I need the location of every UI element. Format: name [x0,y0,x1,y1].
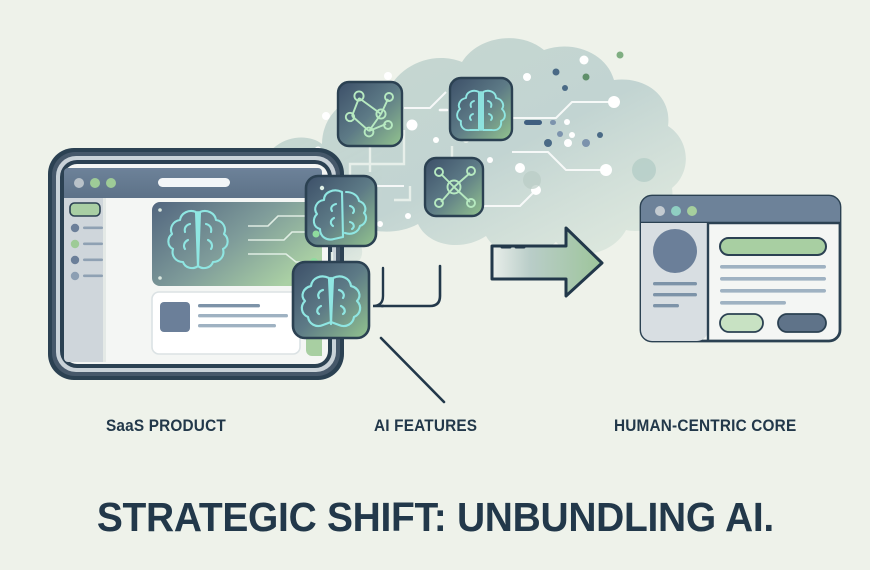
core-secondary-button [720,314,763,332]
core-avatar [653,229,697,273]
core-primary-button [778,314,826,332]
ai-card-node-graph-top[interactable] [338,82,402,146]
window-dot-1 [74,178,84,188]
core-titlebar [641,196,840,223]
core-dot-1 [655,206,665,216]
ai-card-brain-left[interactable] [306,176,376,246]
label-saas-product: SaaS PRODUCT [106,417,226,436]
headline-text: STRATEGIC SHIFT: UNBUNDLING AI. [96,494,773,541]
device-search-bar [158,178,230,187]
card-thumbnail [160,302,190,332]
ai-card-node-graph-mid[interactable] [425,158,483,216]
window-dot-3 [106,178,116,188]
diagram-svg [0,0,870,570]
ai-card-brain-lower[interactable] [293,262,369,338]
ai-card-brain-top-right[interactable] [450,78,512,140]
core-dot-3 [687,206,697,216]
device-sidebar [64,198,105,362]
illustration-canvas: SaaS PRODUCT AI FEATURES HUMAN-CENTRIC C… [0,0,870,570]
leader-line-ai-bracket [373,264,444,402]
human-centric-core-window [641,196,840,341]
label-human-centric-core: HUMAN-CENTRIC CORE [614,417,796,436]
sidebar-primary-button [70,203,100,216]
headline: STRATEGIC SHIFT: UNBUNDLING AI. [0,494,870,541]
core-header-pill [720,238,826,255]
window-dot-2 [90,178,100,188]
core-dot-2 [671,206,681,216]
label-ai-features: AI FEATURES [374,417,477,436]
